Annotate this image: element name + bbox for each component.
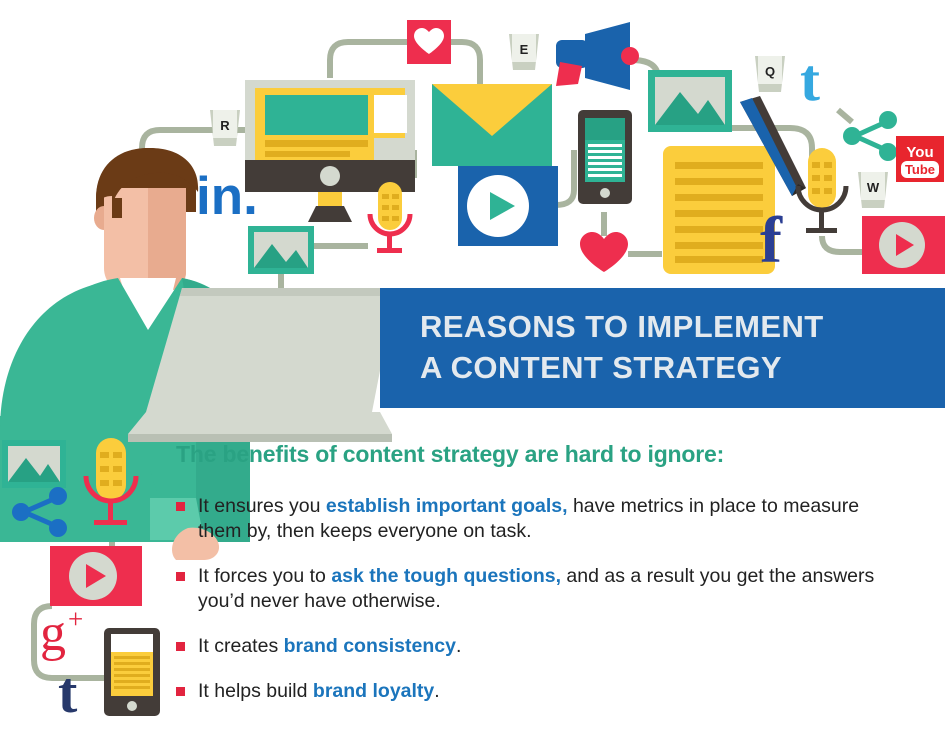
bullet-square-icon [176, 642, 185, 651]
banner-title-line-2: A CONTENT STRATEGY [420, 347, 940, 388]
video-play-box-red-icon [862, 216, 945, 274]
document-icon [663, 146, 775, 274]
benefits-list: It ensures you establish important goals… [176, 494, 876, 704]
keyboard-key-w: W [858, 172, 888, 208]
bullet-pre-text: It forces you to [198, 565, 331, 587]
bullet-link-text: establish important goals, [326, 495, 568, 517]
list-item: It ensures you establish important goals… [176, 494, 876, 544]
banner-title: REASONS TO IMPLEMENT A CONTENT STRATEGY [420, 306, 940, 388]
svg-text:t: t [58, 660, 78, 725]
bullet-text: It helps build brand loyalty. [198, 679, 876, 704]
microphone-icon-2 [798, 148, 846, 233]
heart-square-icon [407, 20, 451, 64]
tumblr-logo-icon-top: t [800, 47, 820, 113]
bullet-pre-text: It creates [198, 635, 284, 657]
bullet-post-text: . [434, 680, 439, 702]
list-item: It creates brand consistency. [176, 634, 876, 659]
svg-text:+: + [68, 604, 83, 634]
svg-text:Q: Q [765, 64, 775, 79]
svg-text:You: You [906, 144, 933, 161]
bullet-square-icon [176, 572, 185, 581]
svg-text:t: t [800, 47, 820, 113]
image-placeholder-icon-3 [2, 440, 66, 488]
infographic-root: R E Q W [0, 0, 945, 741]
list-item: It forces you to ask the tough questions… [176, 564, 876, 614]
keyboard-key-r: R [210, 110, 240, 146]
youtube-logo-icon: You Tube [896, 136, 944, 182]
keyboard-key-e: E [509, 34, 539, 70]
heart-icon-small [580, 232, 628, 272]
linkedin-logo-icon: in. [196, 167, 258, 226]
svg-text:in.: in. [196, 167, 258, 226]
bullet-text: It ensures you establish important goals… [198, 494, 876, 544]
svg-text:f: f [760, 204, 783, 277]
body-content: The benefits of content strategy are har… [176, 440, 876, 704]
bullet-square-icon [176, 687, 185, 696]
tablet-yellow-icon [104, 628, 160, 716]
envelope-icon [432, 84, 552, 166]
tumblr-logo-icon-bottom: t [58, 660, 78, 725]
video-play-box-red-icon-2 [50, 546, 142, 606]
bullet-link-text: brand loyalty [313, 680, 434, 702]
lead-heading: The benefits of content strategy are har… [176, 440, 876, 468]
bullet-pre-text: It ensures you [198, 495, 326, 517]
keyboard-key-q: Q [755, 56, 785, 92]
bullet-text: It creates brand consistency. [198, 634, 876, 659]
bullet-square-icon [176, 502, 185, 511]
bullet-link-text: ask the tough questions, [331, 565, 561, 587]
svg-text:Tube: Tube [905, 162, 935, 177]
bullet-link-text: brand consistency [284, 635, 456, 657]
image-placeholder-icon-1 [248, 226, 314, 274]
banner-title-line-1: REASONS TO IMPLEMENT [420, 306, 940, 347]
megaphone-icon [556, 22, 639, 90]
google-plus-logo-icon: g + [40, 604, 83, 662]
svg-text:W: W [867, 180, 880, 195]
list-item: It helps build brand loyalty. [176, 679, 876, 704]
bullet-text: It forces you to ask the tough questions… [198, 564, 876, 614]
bullet-post-text: . [456, 635, 461, 657]
svg-text:g: g [40, 605, 66, 662]
microphone-icon-1 [370, 182, 410, 253]
tablet-icon [578, 110, 632, 204]
facebook-logo-icon: f [760, 204, 783, 277]
video-play-box-blue-icon [458, 166, 558, 246]
bullet-pre-text: It helps build [198, 680, 313, 702]
svg-text:E: E [520, 42, 529, 57]
svg-text:R: R [220, 118, 230, 133]
image-placeholder-icon-2 [648, 70, 732, 132]
